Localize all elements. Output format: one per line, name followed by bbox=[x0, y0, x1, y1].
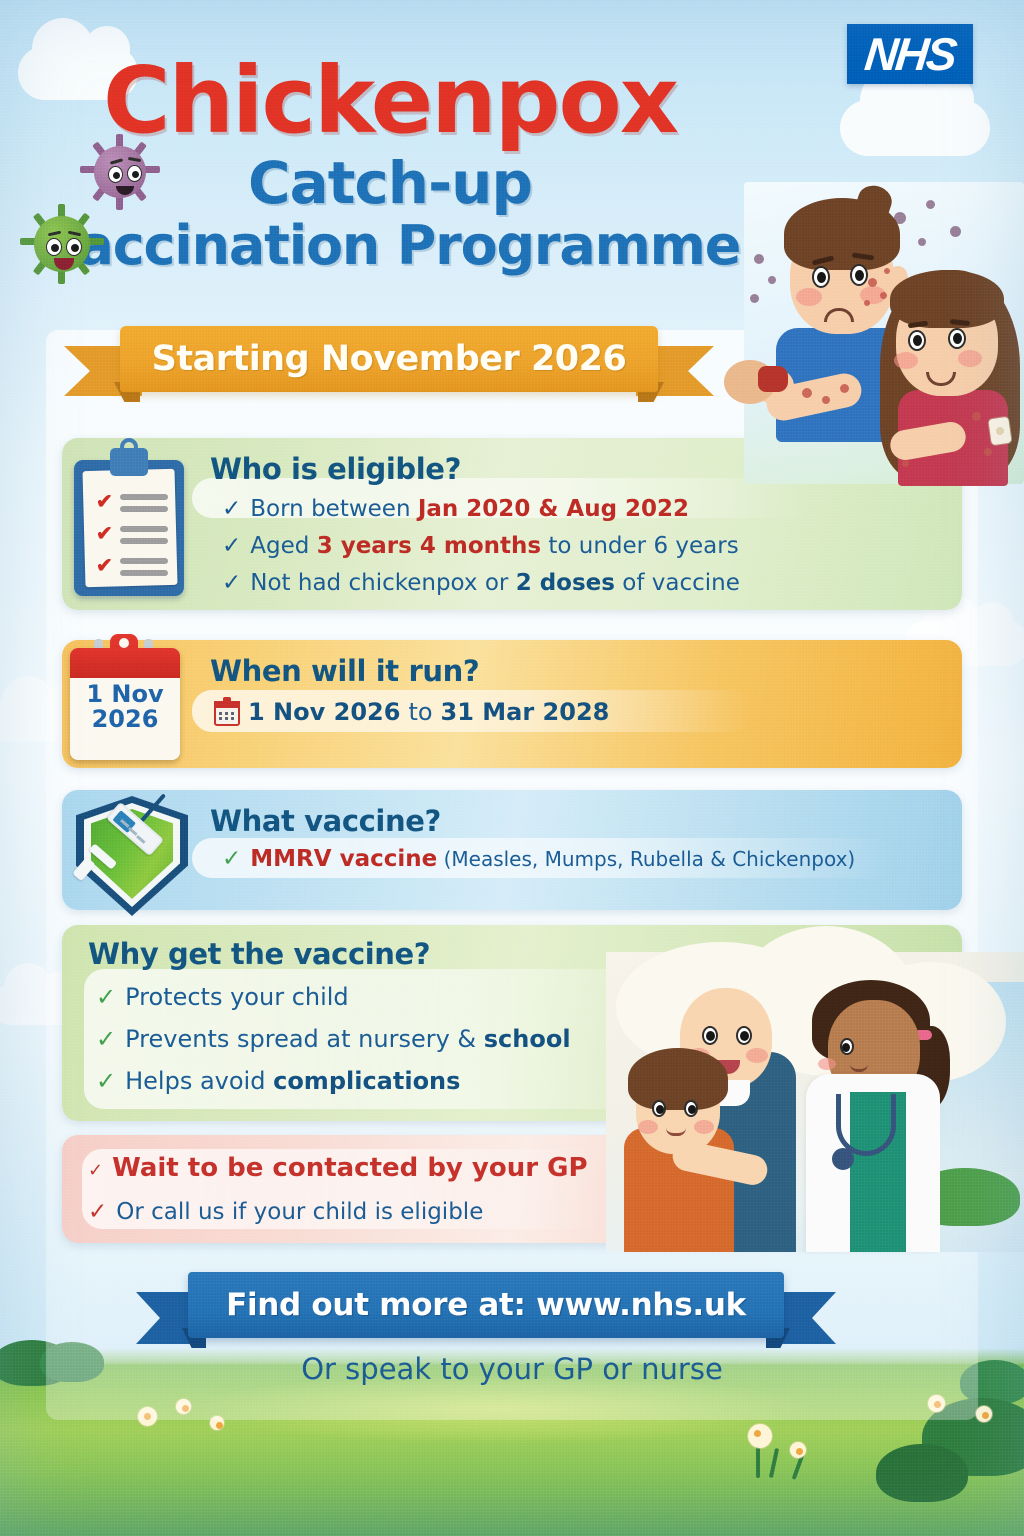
check-icon: ✓ bbox=[96, 985, 116, 1009]
contact-line-1-text: Wait to be contacted by your GP bbox=[112, 1153, 587, 1183]
poster-canvas: NHS Chick bbox=[0, 0, 1024, 1536]
calendar-day: 1 Nov bbox=[70, 682, 180, 707]
flower-decoration bbox=[976, 1406, 992, 1422]
calendar-icon bbox=[214, 699, 240, 726]
section-what-vaccine: What vaccine? ✓ MMRV vaccine (Measles, M… bbox=[62, 790, 962, 910]
why-bullet-1-text: Protects your child bbox=[125, 983, 349, 1011]
ribbon-body: Starting November 2026 bbox=[120, 326, 658, 392]
calendar-date-icon: 1 Nov 2026 bbox=[70, 648, 180, 760]
check-icon: ✓ bbox=[222, 498, 241, 521]
why-bullet-3: ✓ Helps avoid complications bbox=[96, 1067, 656, 1095]
flower-decoration bbox=[748, 1424, 772, 1448]
flower-decoration bbox=[790, 1442, 806, 1458]
section-heading-why: Why get the vaccine? bbox=[88, 937, 430, 971]
check-icon: ✓ bbox=[222, 535, 241, 558]
date-range-end: 31 Mar 2028 bbox=[441, 698, 610, 726]
section-heading-vaccine: What vaccine? bbox=[210, 804, 441, 838]
shield-syringe-icon bbox=[76, 796, 188, 916]
section-heading-when: When will it run? bbox=[210, 654, 479, 688]
virus-character-purple-icon bbox=[84, 136, 156, 208]
virus-character-green-icon bbox=[24, 206, 100, 282]
title-line3: Vaccination Programme bbox=[0, 217, 780, 275]
eligible-bullet-3-text: Not had chickenpox or 2 doses of vaccine bbox=[250, 570, 740, 596]
eligible-bullet-1: ✓ Born between Jan 2020 & Aug 2022 bbox=[222, 496, 922, 522]
eligible-bullet-3: ✓ Not had chickenpox or 2 doses of vacci… bbox=[222, 570, 922, 596]
nhs-logo: NHS bbox=[847, 24, 973, 84]
contact-line-2: ✓ Or call us if your child is eligible bbox=[88, 1199, 648, 1225]
bush-decoration bbox=[876, 1444, 968, 1502]
eligible-bullet-1-text: Born between Jan 2020 & Aug 2022 bbox=[250, 496, 689, 522]
check-icon: ✓ bbox=[222, 848, 241, 871]
contact-line-1: ✓ Wait to be contacted by your GP bbox=[88, 1153, 648, 1183]
eligible-bullet-2: ✓ Aged 3 years 4 months to under 6 years bbox=[222, 533, 922, 559]
vaccine-bullet: ✓ MMRV vaccine (Measles, Mumps, Rubella … bbox=[222, 846, 855, 872]
girl-character bbox=[874, 260, 1024, 484]
eligible-bullet-2-text: Aged 3 years 4 months to under 6 years bbox=[250, 533, 738, 559]
sick-children-illustration bbox=[744, 182, 1024, 484]
vaccine-bullet-text: MMRV vaccine (Measles, Mumps, Rubella & … bbox=[250, 846, 855, 872]
title-main: Chickenpox bbox=[0, 56, 780, 146]
why-bullet-2: ✓ Prevents spread at nursery & school bbox=[96, 1025, 656, 1053]
check-icon: ✓ bbox=[88, 1162, 103, 1180]
find-out-more-banner[interactable]: Find out more at: www.nhs.uk bbox=[136, 1272, 836, 1346]
calendar-year: 2026 bbox=[70, 707, 180, 732]
check-icon: ✓ bbox=[88, 1201, 107, 1224]
clipboard-icon: ✔ ✔ ✔ bbox=[70, 446, 188, 598]
start-date-ribbon: Starting November 2026 bbox=[64, 326, 714, 398]
programme-date-range: 1 Nov 2026 to 31 Mar 2028 bbox=[214, 698, 609, 726]
stethoscope-icon bbox=[836, 1094, 896, 1156]
nhs-logo-text: NHS bbox=[863, 31, 957, 77]
date-range-start: 1 Nov 2026 bbox=[248, 698, 400, 726]
check-icon: ✓ bbox=[222, 572, 241, 595]
cloud-decoration bbox=[840, 100, 990, 156]
why-bullet-3-text: Helps avoid complications bbox=[125, 1067, 460, 1095]
section-when-will-it-run: When will it run? 1 Nov 2026 to 31 Mar 2… bbox=[62, 640, 962, 768]
flower-stem bbox=[756, 1444, 760, 1478]
why-bullet-2-text: Prevents spread at nursery & school bbox=[125, 1025, 570, 1053]
footer-note: Or speak to your GP or nurse bbox=[0, 1352, 1024, 1386]
check-icon: ✓ bbox=[96, 1069, 116, 1093]
contact-line-2-text: Or call us if your child is eligible bbox=[116, 1199, 483, 1225]
date-range-joiner: to bbox=[408, 698, 432, 726]
section-heading-eligible: Who is eligible? bbox=[210, 452, 461, 486]
banner-body[interactable]: Find out more at: www.nhs.uk bbox=[188, 1272, 784, 1338]
family-with-nurse-illustration bbox=[606, 952, 1024, 1252]
check-icon: ✓ bbox=[96, 1027, 116, 1051]
find-out-more-text: Find out more at: www.nhs.uk bbox=[226, 1287, 746, 1323]
start-date-text: Starting November 2026 bbox=[152, 339, 627, 379]
why-bullet-1: ✓ Protects your child bbox=[96, 983, 656, 1011]
